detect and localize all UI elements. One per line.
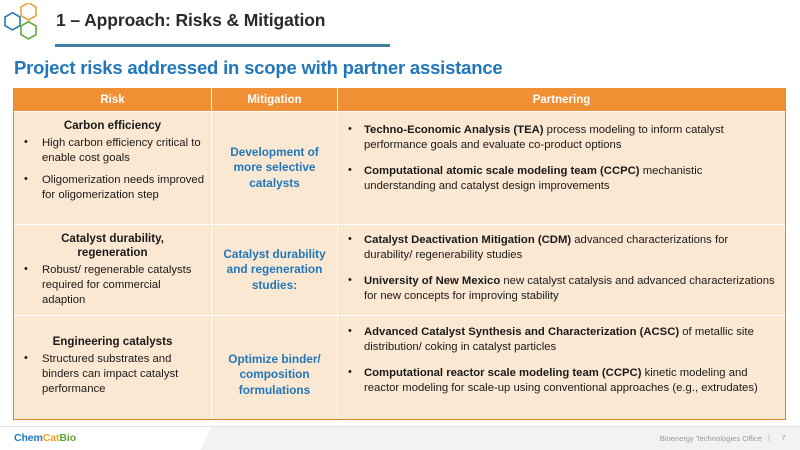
partnering-bullet-list: Advanced Catalyst Synthesis and Characte… [342,325,775,397]
mitigation-text: Development of more selective catalysts [216,145,333,191]
mitigation-text: Optimize binder/ composition formulation… [216,352,333,398]
table-row: Catalyst durability, regeneration Robust… [14,224,785,315]
mitigation-text: Catalyst durability and regeneration stu… [216,247,333,293]
partnering-bullet-list: Techno-Economic Analysis (TEA) process m… [342,123,775,195]
footer-office-label: Bioenergy Technologies Office [660,434,762,443]
risks-mitigation-table: Risk Mitigation Partnering Carbon effici… [13,88,786,420]
partner-name: Computational reactor scale modeling tea… [364,367,641,379]
slide-subtitle: Project risks addressed in scope with pa… [14,57,503,79]
partnering-cell: Catalyst Deactivation Mitigation (CDM) a… [338,225,785,315]
risk-bullet-list: Structured substrates and binders can im… [18,352,207,397]
risk-cell: Carbon efficiency High carbon efficiency… [14,112,212,224]
partnering-cell: Advanced Catalyst Synthesis and Characte… [338,316,785,419]
risk-cell: Engineering catalysts Structured substra… [14,316,212,419]
list-item: Structured substrates and binders can im… [18,352,207,397]
list-item: Oligomerization needs improved for oligo… [18,173,207,203]
table-header-row: Risk Mitigation Partnering [14,88,785,111]
footer-separator: | [768,433,770,442]
table-row: Carbon efficiency High carbon efficiency… [14,111,785,224]
wordmark-cat: Cat [43,432,60,444]
wordmark-chem: Chem [14,432,43,444]
risk-bullet-list: Robust/ regenerable catalysts required f… [18,263,207,308]
wordmark-bio: Bio [59,432,76,444]
partner-name: Techno-Economic Analysis (TEA) [364,124,544,136]
mitigation-cell: Development of more selective catalysts [212,112,338,224]
column-header-partnering: Partnering [338,88,785,111]
mitigation-cell: Catalyst durability and regeneration stu… [212,225,338,315]
partnering-bullet-list: Catalyst Deactivation Mitigation (CDM) a… [342,233,775,305]
mitigation-cell: Optimize binder/ composition formulation… [212,316,338,419]
slide-footer: ChemCatBio Bioenergy Technologies Office… [0,426,800,450]
list-item: Computational atomic scale modeling team… [342,164,775,194]
risk-bullet-list: High carbon efficiency critical to enabl… [18,136,207,203]
risk-heading: Catalyst durability, regeneration [30,232,195,260]
risk-cell: Catalyst durability, regeneration Robust… [14,225,212,315]
column-header-risk: Risk [14,88,212,111]
page-title: 1 – Approach: Risks & Mitigation [56,10,325,31]
list-item: Computational reactor scale modeling tea… [342,366,775,396]
title-underline-divider [55,44,390,47]
partner-name: Advanced Catalyst Synthesis and Characte… [364,326,679,338]
risk-heading: Engineering catalysts [30,335,195,349]
list-item: Techno-Economic Analysis (TEA) process m… [342,123,775,153]
list-item: Catalyst Deactivation Mitigation (CDM) a… [342,233,775,263]
partner-name: Catalyst Deactivation Mitigation (CDM) [364,234,571,246]
column-header-mitigation: Mitigation [212,88,338,111]
table-row: Engineering catalysts Structured substra… [14,315,785,419]
list-item: Robust/ regenerable catalysts required f… [18,263,207,308]
list-item: Advanced Catalyst Synthesis and Characte… [342,325,775,355]
partner-name: Computational atomic scale modeling team… [364,165,640,177]
partnering-cell: Techno-Economic Analysis (TEA) process m… [338,112,785,224]
chemcatbio-wordmark: ChemCatBio [14,432,76,444]
page-number: 7 [777,433,790,442]
slide-header: 1 – Approach: Risks & Mitigation [0,0,800,52]
chemcatbio-hexagon-logo-icon [3,3,51,47]
list-item: University of New Mexico new catalyst ca… [342,274,775,304]
risk-heading: Carbon efficiency [30,119,195,133]
partner-name: University of New Mexico [364,275,500,287]
list-item: High carbon efficiency critical to enabl… [18,136,207,166]
